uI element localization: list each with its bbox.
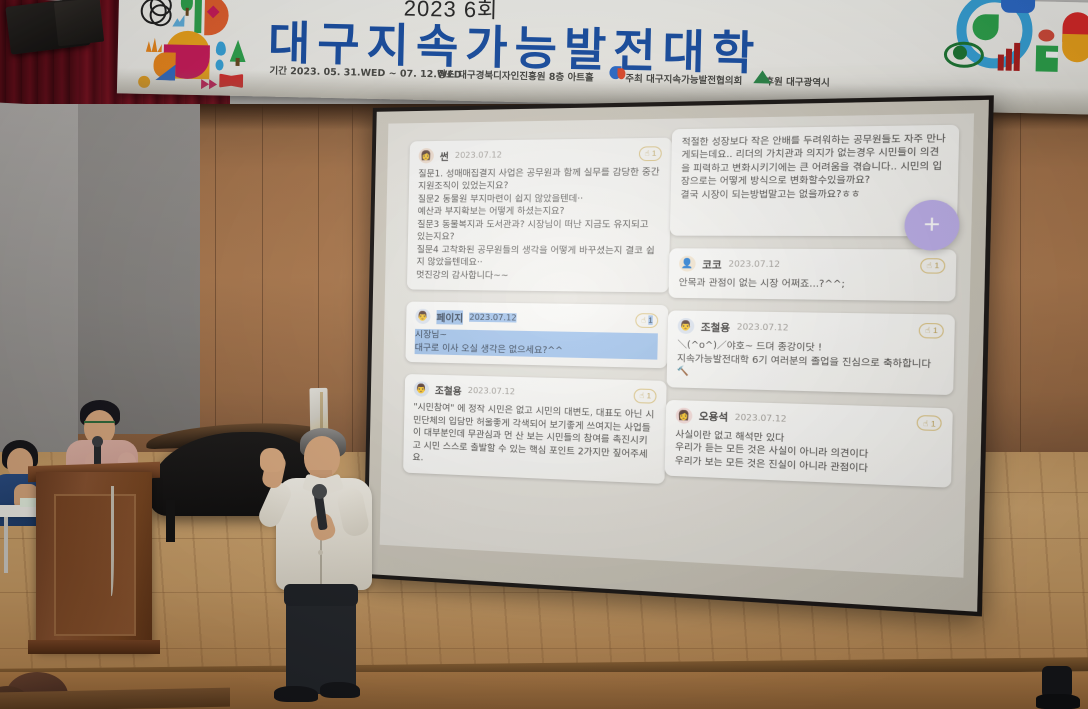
card-header: 👨 조철용 2023.07.12 ☝ 1 xyxy=(414,382,657,404)
message-card[interactable]: 👩 썬 2023.07.12 ☝ 1 질문1. 성매매집결지 사업은 공무원과 … xyxy=(407,138,672,293)
timestamp: 2023.07.12 xyxy=(469,313,516,323)
message-body: ＼(^o^)／야호~ 드뎌 종강이닷 ! 지속가능발전대학 6기 여러분의 졸업… xyxy=(677,340,944,386)
thumbs-up-icon: ☝ xyxy=(925,326,931,336)
like-badge[interactable]: ☝ 1 xyxy=(639,146,662,161)
like-badge[interactable]: ☝ 1 xyxy=(634,388,657,403)
like-count: 1 xyxy=(648,316,653,326)
ceiling-speaker-secondary xyxy=(54,0,104,46)
podium xyxy=(36,472,152,650)
thumbs-up-icon: ☝ xyxy=(639,391,644,401)
timestamp: 2023.07.12 xyxy=(728,259,780,269)
card-header: 👩 썬 2023.07.12 ☝ 1 xyxy=(419,145,662,163)
avatar: 👩 xyxy=(419,148,434,163)
avatar: 👩 xyxy=(676,407,693,423)
message-body: 안목과 관점이 없는 시장 어쩌죠...?^^; xyxy=(679,277,945,293)
message-body: 사실이란 없고 해석만 있다 우리가 듣는 모든 것은 사실이 아니라 의견이다… xyxy=(675,429,942,479)
projection-screen: 👩 썬 2023.07.12 ☝ 1 질문1. 성매매집결지 사업은 공무원과 … xyxy=(363,95,994,616)
thumbs-up-icon: ☝ xyxy=(641,316,646,326)
message-body: 시장님~ 대구로 이사 오실 생각은 없으세요?^^ xyxy=(415,329,658,360)
author-name: 오용석 xyxy=(699,409,728,425)
like-badge[interactable]: ☝ 1 xyxy=(920,258,945,274)
message-body: 적절한 성장보다 작은 안배를 두려워하는 공무원들도 자주 만나게되는데요..… xyxy=(680,133,948,203)
card-header: 👨 조철용 2023.07.12 ☝ 1 xyxy=(678,318,944,339)
timestamp: 2023.07.12 xyxy=(468,386,515,397)
author-name: 페이지 xyxy=(436,310,463,325)
card-header: 👤 코코 2023.07.12 ☝ 1 xyxy=(679,256,946,274)
slide-content: 👩 썬 2023.07.12 ☝ 1 질문1. 성매매집결지 사업은 공무원과 … xyxy=(380,113,974,577)
avatar: 👤 xyxy=(679,256,696,272)
cable xyxy=(108,486,114,596)
slide-right-column: 적절한 성장보다 작은 안배를 두려워하는 공무원들도 자주 만나게되는데요..… xyxy=(664,134,959,502)
like-badge[interactable]: ☝ 1 xyxy=(917,415,942,431)
conference-hall-photo: 2023 6회 대구지속가능발전대학 기간 2023. 05. 31.WED ~… xyxy=(0,0,1088,709)
like-badge[interactable]: ☝ 1 xyxy=(919,323,944,339)
timestamp: 2023.07.12 xyxy=(455,150,502,160)
like-count: 1 xyxy=(934,260,939,270)
audience-bench xyxy=(0,688,230,709)
message-card[interactable]: 👨 조철용 2023.07.12 ☝ 1 "시민참여" 에 정작 시민은 없고 … xyxy=(403,374,667,483)
avatar: 👨 xyxy=(678,318,695,334)
message-card[interactable]: 👨 조철용 2023.07.12 ☝ 1 ＼(^o^)／야호~ 드뎌 종강이닷 … xyxy=(667,311,955,395)
author-name: 조철용 xyxy=(701,319,730,334)
message-body: 질문1. 성매매집결지 사업은 공무원과 함께 실무를 감당한 중간지원조직이 … xyxy=(416,166,661,284)
like-count: 1 xyxy=(931,419,936,429)
author-name: 썬 xyxy=(440,148,449,162)
eyeglasses-icon xyxy=(84,421,115,429)
like-badge[interactable]: ☝ 1 xyxy=(635,313,658,328)
card-header: 👩 오용석 2023.07.12 ☝ 1 xyxy=(676,407,942,432)
like-count: 1 xyxy=(652,148,657,158)
timestamp: 2023.07.12 xyxy=(737,323,789,334)
audience-shoe xyxy=(1036,694,1080,709)
author-name: 조철용 xyxy=(435,383,462,398)
message-card[interactable]: 👨 페이지 2023.07.12 ☝ 1 시장님~ 대구로 이사 오실 생각은 … xyxy=(405,302,668,369)
message-card[interactable]: 👤 코코 2023.07.12 ☝ 1 안목과 관점이 없는 시장 어쩌죠...… xyxy=(668,248,956,302)
piano-leg xyxy=(166,500,175,542)
avatar: 👨 xyxy=(414,382,429,398)
message-card[interactable]: 👩 오용석 2023.07.12 ☝ 1 사실이란 없고 해석만 있다 우리가 … xyxy=(665,400,953,488)
thumbs-up-icon: ☝ xyxy=(926,260,932,270)
card-header: 👨 페이지 2023.07.12 ☝ 1 xyxy=(415,309,658,328)
podium-base xyxy=(28,640,160,654)
standing-presenter xyxy=(258,428,388,700)
like-count: 1 xyxy=(646,391,651,401)
slide-left-column: 👩 썬 2023.07.12 ☝ 1 질문1. 성매매집결지 사업은 공무원과 … xyxy=(403,138,672,497)
avatar: 👨 xyxy=(415,309,430,324)
like-count: 1 xyxy=(933,326,938,336)
screen-surface: 👩 썬 2023.07.12 ☝ 1 질문1. 성매매집결지 사업은 공무원과 … xyxy=(367,100,989,612)
thumbs-up-icon: ☝ xyxy=(645,148,650,158)
thumbs-up-icon: ☝ xyxy=(923,418,929,428)
author-name: 코코 xyxy=(702,256,722,271)
message-body: "시민참여" 에 정작 시민은 없고 시민의 대변도, 대표도 아닌 시민단체의… xyxy=(412,402,656,475)
timestamp: 2023.07.12 xyxy=(735,412,787,423)
